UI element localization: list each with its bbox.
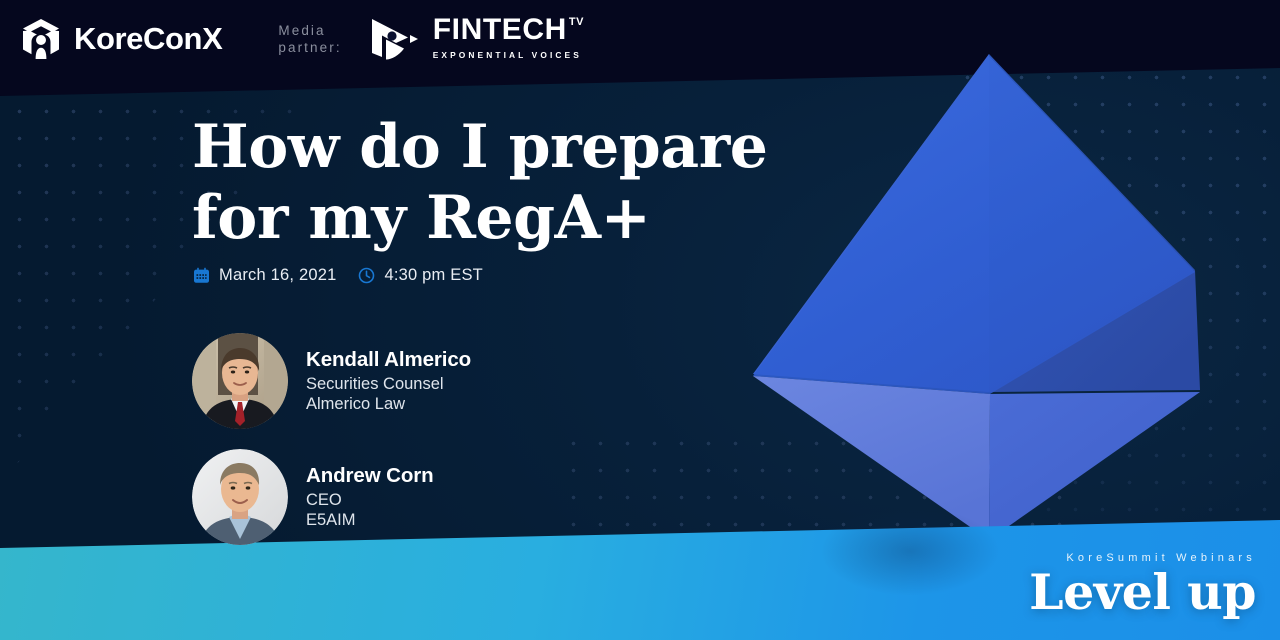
speaker-role: CEO [306, 490, 434, 510]
event-date-text: March 16, 2021 [219, 266, 336, 285]
fintechtv-play-icon [368, 13, 422, 65]
speaker-card: Kendall Almerico Securities Counsel Alme… [192, 329, 471, 433]
webinar-banner: KoreConX Media partner: FINTECH TV EXPON… [0, 0, 1280, 640]
event-meta: March 16, 2021 4:30 pm EST [193, 266, 483, 285]
koreconx-cube-icon [18, 16, 64, 62]
fintechtv-name: FINTECH [433, 15, 567, 45]
speaker-card: Andrew Corn CEO E5AIM [192, 445, 471, 549]
fintechtv-wordmark-block: FINTECH TV EXPONENTIAL VOICES [433, 15, 584, 63]
koreconx-wordmark: KoreConX [74, 21, 222, 57]
koreconx-logo: KoreConX [18, 16, 222, 62]
speaker-photo-kendall-almerico [192, 333, 288, 429]
fintechtv-logo: FINTECH TV EXPONENTIAL VOICES [368, 13, 584, 65]
page-title: How do I prepare for my RegA+ [192, 112, 812, 254]
speaker-info: Kendall Almerico Securities Counsel Alme… [306, 348, 471, 414]
headline-line-2: for my RegA+ [192, 183, 812, 254]
fintechtv-tagline: EXPONENTIAL VOICES [433, 50, 582, 60]
speaker-list: Kendall Almerico Securities Counsel Alme… [192, 329, 471, 549]
speaker-info: Andrew Corn CEO E5AIM [306, 464, 434, 530]
event-time: 4:30 pm EST [358, 266, 483, 285]
speaker-photo-andrew-corn [192, 449, 288, 545]
octahedron-shape [740, 40, 1240, 560]
headline-line-1: How do I prepare [192, 112, 812, 183]
speaker-role: Securities Counsel [306, 374, 471, 394]
media-partner-label: Media partner: [278, 22, 341, 56]
event-time-text: 4:30 pm EST [384, 266, 483, 285]
clock-icon [358, 267, 375, 284]
speaker-name: Andrew Corn [306, 464, 434, 488]
speaker-name: Kendall Almerico [306, 348, 471, 372]
fintechtv-superscript: TV [569, 16, 584, 28]
event-date: March 16, 2021 [193, 266, 336, 285]
calendar-icon [193, 267, 210, 284]
brand-block: KoreSummit Webinars Level up [1029, 552, 1256, 618]
speaker-org: Almerico Law [306, 394, 471, 414]
header-bar: KoreConX Media partner: FINTECH TV EXPON… [0, 0, 1280, 78]
speaker-org: E5AIM [306, 510, 434, 530]
brand-title: Level up [1029, 566, 1256, 618]
